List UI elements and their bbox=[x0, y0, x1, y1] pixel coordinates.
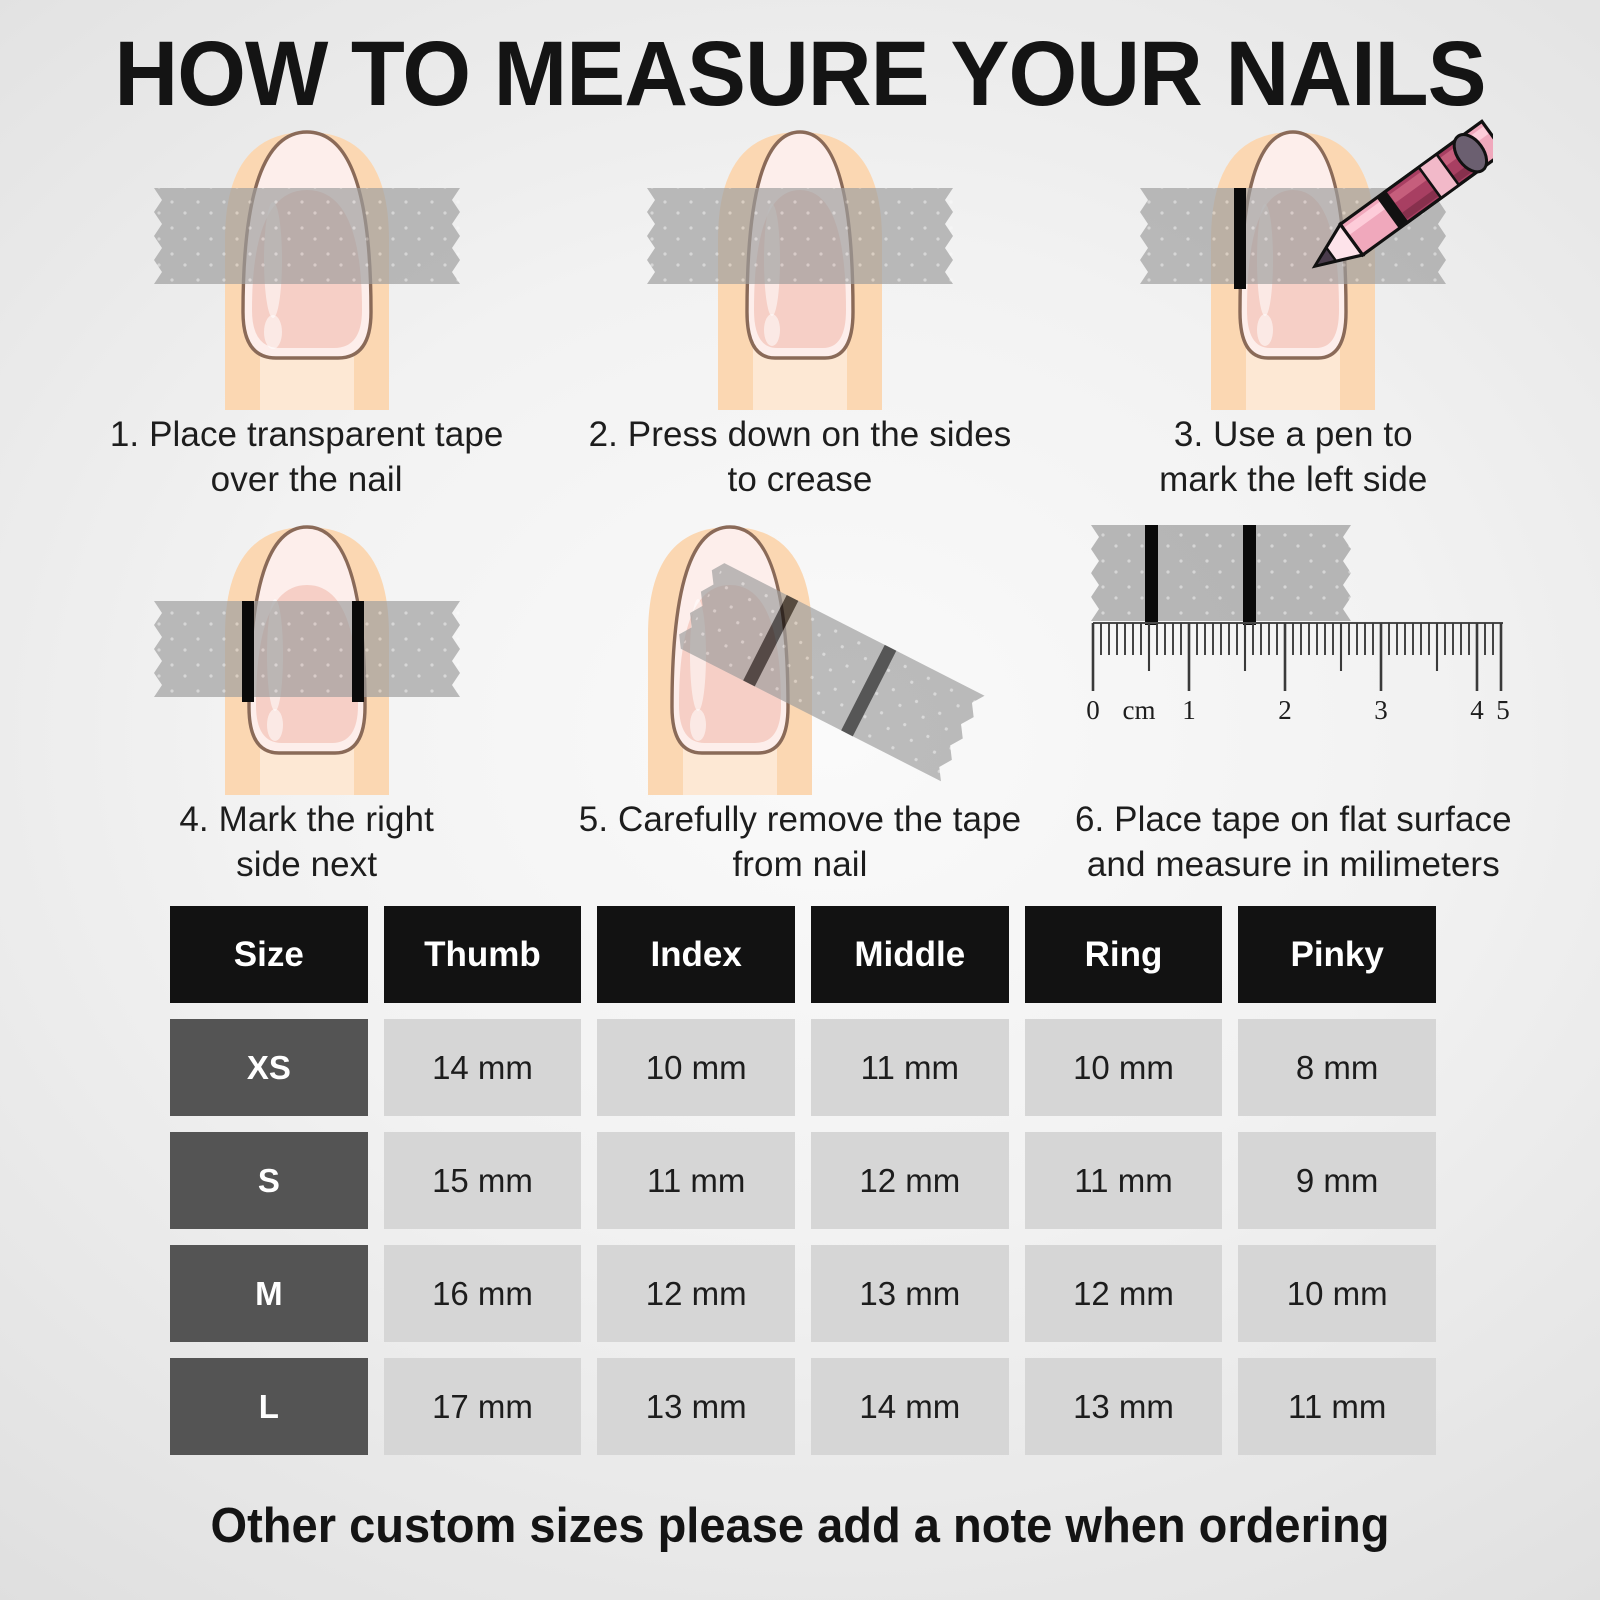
table-row-size-label: M bbox=[170, 1245, 368, 1342]
step-4: 4. Mark the right side next bbox=[60, 505, 553, 890]
table-header-ring: Ring bbox=[1025, 906, 1223, 1003]
step-2-caption: 2. Press down on the sides to crease bbox=[553, 412, 1046, 502]
right-mark bbox=[1243, 525, 1256, 625]
table-cell-pinky: 8 mm bbox=[1238, 1019, 1436, 1116]
table-cell-ring: 12 mm bbox=[1025, 1245, 1223, 1342]
tape-strip bbox=[154, 601, 460, 697]
step-5-illustration bbox=[553, 505, 1046, 795]
table-cell-middle: 12 mm bbox=[811, 1132, 1009, 1229]
step-6-illustration: 0 cm 1 2 3 4 5 bbox=[1047, 505, 1540, 795]
table-cell-index: 13 mm bbox=[597, 1358, 795, 1455]
step-2: 2. Press down on the sides to crease bbox=[553, 120, 1046, 505]
step-6-caption-line-2: and measure in milimeters bbox=[1047, 842, 1540, 887]
ruler bbox=[1093, 623, 1503, 691]
step-1: 1. Place transparent tape over the nail bbox=[60, 120, 553, 505]
step-4-caption-line-1: 4. Mark the right bbox=[60, 797, 553, 842]
step-6-caption-line-1: 6. Place tape on flat surface bbox=[1047, 797, 1540, 842]
left-mark bbox=[1234, 188, 1246, 289]
ruler-label-cm: cm bbox=[1123, 695, 1156, 725]
step-6-caption: 6. Place tape on flat surface and measur… bbox=[1047, 797, 1540, 887]
step-4-caption-line-2: side next bbox=[60, 842, 553, 887]
right-mark bbox=[352, 601, 364, 702]
ruler-label-3: 3 bbox=[1375, 695, 1389, 725]
step-3: 3. Use a pen to mark the left side bbox=[1047, 120, 1540, 505]
table-cell-index: 12 mm bbox=[597, 1245, 795, 1342]
step-2-caption-line-2: to crease bbox=[553, 457, 1046, 502]
table-header-pinky: Pinky bbox=[1238, 906, 1436, 1003]
table-cell-ring: 13 mm bbox=[1025, 1358, 1223, 1455]
table-cell-middle: 11 mm bbox=[811, 1019, 1009, 1116]
table-row-size-label: S bbox=[170, 1132, 368, 1229]
table-header-size: Size bbox=[170, 906, 368, 1003]
table-cell-ring: 10 mm bbox=[1025, 1019, 1223, 1116]
table-cell-pinky: 11 mm bbox=[1238, 1358, 1436, 1455]
table-cell-middle: 13 mm bbox=[811, 1245, 1009, 1342]
table-cell-index: 10 mm bbox=[597, 1019, 795, 1116]
step-3-illustration bbox=[1047, 120, 1540, 410]
table-cell-pinky: 10 mm bbox=[1238, 1245, 1436, 1342]
step-1-caption-line-1: 1. Place transparent tape bbox=[60, 412, 553, 457]
steps-grid: 1. Place transparent tape over the nail bbox=[60, 120, 1540, 890]
ruler-label-4: 4 bbox=[1471, 695, 1485, 725]
table-header-thumb: Thumb bbox=[384, 906, 582, 1003]
size-chart-table: SizeThumbIndexMiddleRingPinkyXS14 mm10 m… bbox=[170, 906, 1436, 1455]
step-2-illustration bbox=[553, 120, 1046, 410]
step-5-caption: 5. Carefully remove the tape from nail bbox=[553, 797, 1046, 887]
step-1-caption-line-2: over the nail bbox=[60, 457, 553, 502]
step-4-caption: 4. Mark the right side next bbox=[60, 797, 553, 887]
table-header-middle: Middle bbox=[811, 906, 1009, 1003]
footer-note: Other custom sizes please add a note whe… bbox=[32, 1498, 1568, 1554]
ruler-labels: 0 cm 1 2 3 4 5 bbox=[1087, 695, 1511, 725]
left-mark bbox=[1145, 525, 1158, 625]
step-4-illustration bbox=[60, 505, 553, 795]
step-1-illustration bbox=[60, 120, 553, 410]
ruler-label-2: 2 bbox=[1279, 695, 1293, 725]
table-row-size-label: L bbox=[170, 1358, 368, 1455]
step-1-caption: 1. Place transparent tape over the nail bbox=[60, 412, 553, 502]
left-mark bbox=[242, 601, 254, 702]
step-3-caption-line-1: 3. Use a pen to bbox=[1047, 412, 1540, 457]
step-5-caption-line-1: 5. Carefully remove the tape bbox=[553, 797, 1046, 842]
tape-strip bbox=[154, 188, 460, 284]
step-5: 5. Carefully remove the tape from nail bbox=[553, 505, 1046, 890]
table-cell-thumb: 17 mm bbox=[384, 1358, 582, 1455]
ruler-label-1: 1 bbox=[1183, 695, 1197, 725]
tape-strip bbox=[647, 188, 953, 284]
table-header-index: Index bbox=[597, 906, 795, 1003]
table-cell-pinky: 9 mm bbox=[1238, 1132, 1436, 1229]
table-cell-thumb: 14 mm bbox=[384, 1019, 582, 1116]
table-row-size-label: XS bbox=[170, 1019, 368, 1116]
step-3-caption: 3. Use a pen to mark the left side bbox=[1047, 412, 1540, 502]
step-6: 0 cm 1 2 3 4 5 6. Place tape on flat sur… bbox=[1047, 505, 1540, 890]
tape-strip-flat bbox=[1091, 525, 1351, 621]
ruler-label-0: 0 bbox=[1087, 695, 1101, 725]
table-cell-thumb: 15 mm bbox=[384, 1132, 582, 1229]
table-cell-ring: 11 mm bbox=[1025, 1132, 1223, 1229]
table-cell-thumb: 16 mm bbox=[384, 1245, 582, 1342]
step-3-caption-line-2: mark the left side bbox=[1047, 457, 1540, 502]
table-cell-middle: 14 mm bbox=[811, 1358, 1009, 1455]
ruler-label-5: 5 bbox=[1497, 695, 1511, 725]
table-cell-index: 11 mm bbox=[597, 1132, 795, 1229]
step-2-caption-line-1: 2. Press down on the sides bbox=[553, 412, 1046, 457]
step-5-caption-line-2: from nail bbox=[553, 842, 1046, 887]
page-title: HOW TO MEASURE YOUR NAILS bbox=[32, 26, 1568, 122]
